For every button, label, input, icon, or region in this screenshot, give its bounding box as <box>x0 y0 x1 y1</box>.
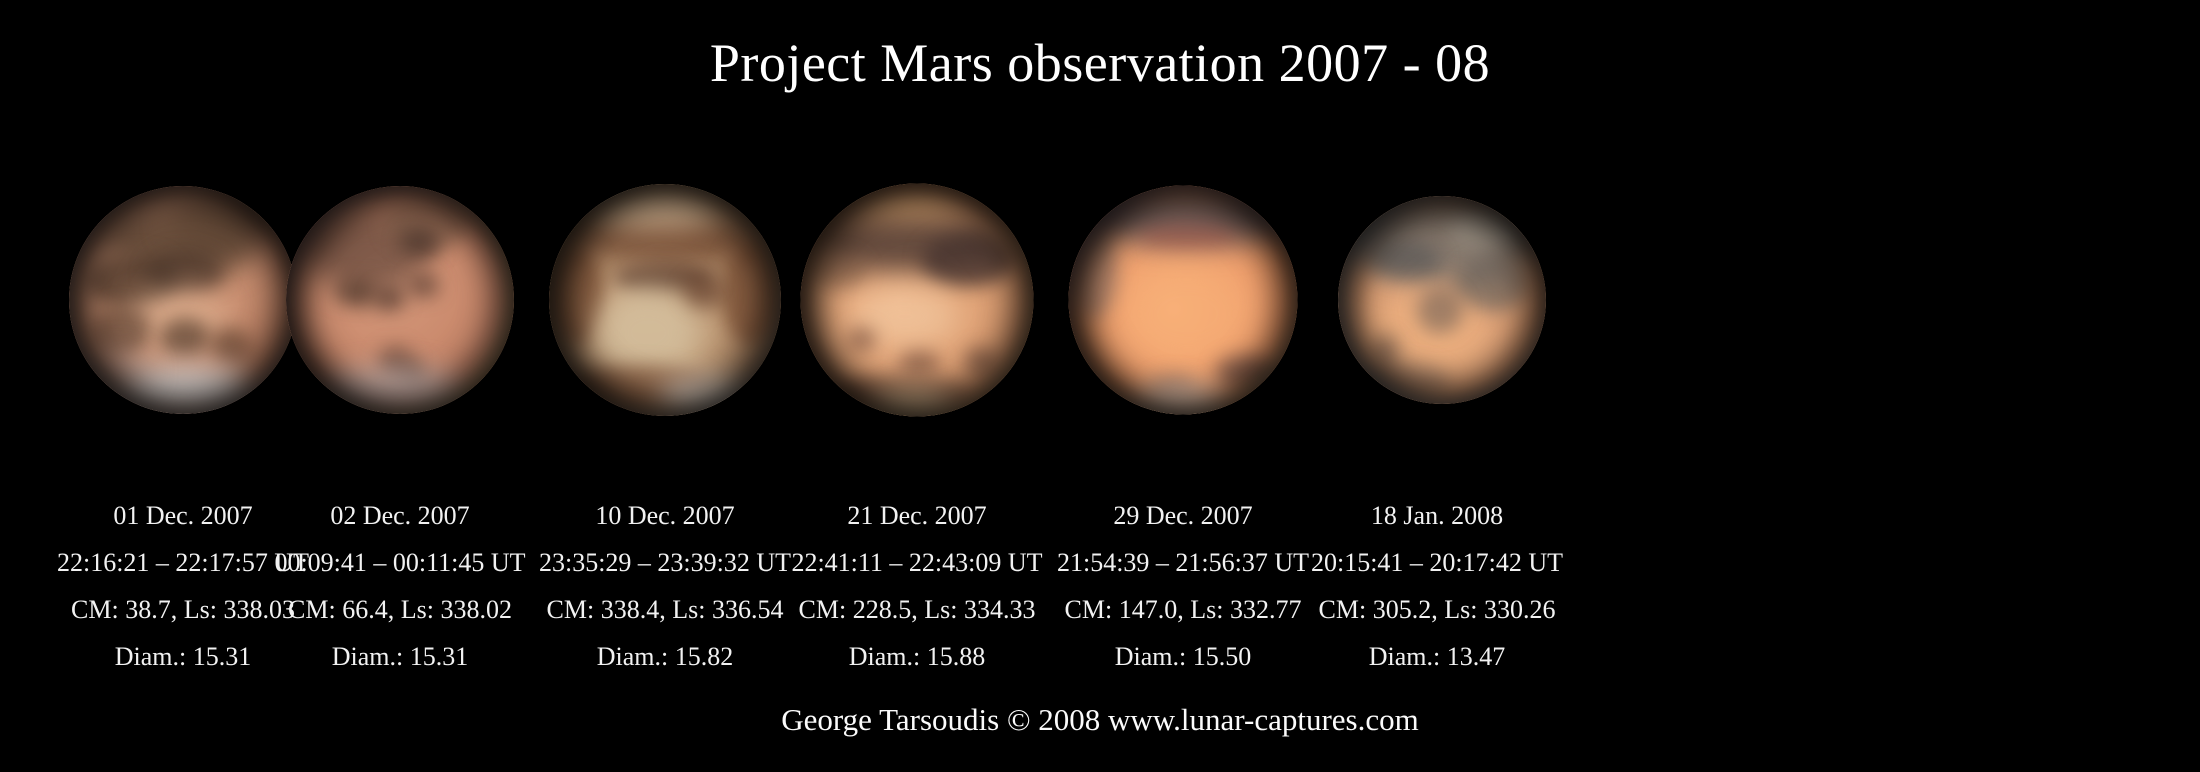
mars-disk-image-2 <box>286 186 514 414</box>
mars-observation-poster: Project Mars observation 2007 - 08 <box>0 0 2200 772</box>
mars-disk-image-4 <box>801 184 1034 417</box>
page-title: Project Mars observation 2007 - 08 <box>0 32 2200 94</box>
mars-disk-cell-6 <box>1292 150 1592 450</box>
observation-time-range: 20:15:41 – 20:17:42 UT <box>1272 539 1602 586</box>
mars-disk-cell-5 <box>1033 150 1333 450</box>
observation-caption-6: 18 Jan. 2008 20:15:41 – 20:17:42 UT CM: … <box>1272 492 1602 680</box>
observation-cm-ls: CM: 305.2, Ls: 330.26 <box>1272 586 1602 633</box>
observation-date: 18 Jan. 2008 <box>1272 492 1602 539</box>
mars-disk-image-6 <box>1338 196 1546 404</box>
mars-disk-cell-4 <box>767 150 1067 450</box>
mars-disk-image-5 <box>1069 186 1298 415</box>
mars-disk-row <box>0 150 2200 460</box>
credit-line: George Tarsoudis © 2008 www.lunar-captur… <box>0 700 2200 740</box>
caption-row: 01 Dec. 2007 22:16:21 – 22:17:57 UT CM: … <box>0 492 2200 682</box>
mars-disk-cell-2 <box>250 150 550 450</box>
observation-diameter: Diam.: 13.47 <box>1272 633 1602 680</box>
mars-disk-image-3 <box>549 184 781 416</box>
